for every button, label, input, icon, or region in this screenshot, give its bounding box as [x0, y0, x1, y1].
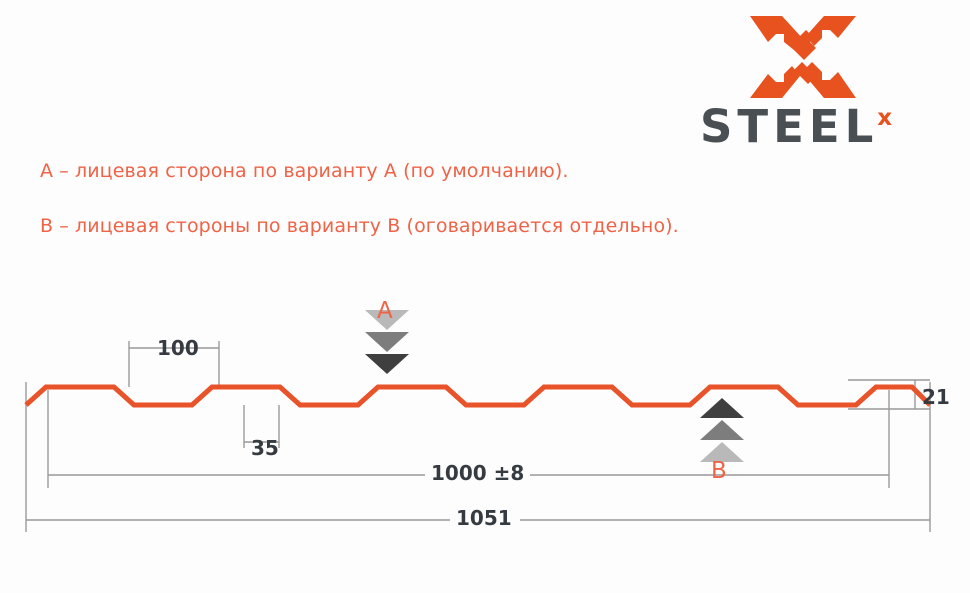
dimension-label-total-width: 1051 — [456, 506, 512, 530]
drawing-canvas: STEEL x A – лицевая сторона по варианту … — [0, 0, 970, 593]
note-variant-a: A – лицевая сторона по варианту А (по ум… — [40, 160, 569, 182]
note-variant-b: В – лицевая стороны по варианту В (огова… — [40, 215, 679, 237]
dimension-label-height: 21 — [922, 385, 950, 409]
brand-logo: STEEL x — [700, 14, 940, 149]
dimension-label-valley-width: 35 — [251, 436, 279, 460]
dimension-label-pitch: 100 — [157, 336, 199, 360]
steelx-x-mark-icon — [748, 14, 858, 100]
brand-wordmark: STEEL x — [700, 104, 940, 150]
side-marker-b-icon — [700, 398, 744, 462]
side-marker-b-label: B — [711, 458, 727, 484]
side-marker-a-label: A — [377, 298, 393, 324]
dimension-lines — [26, 341, 930, 532]
wordmark-text: STEEL — [700, 104, 878, 149]
wordmark-superscript: x — [877, 107, 892, 130]
sheet-profile-path — [26, 387, 930, 405]
dimension-label-working-width: 1000 ±8 — [431, 461, 524, 485]
